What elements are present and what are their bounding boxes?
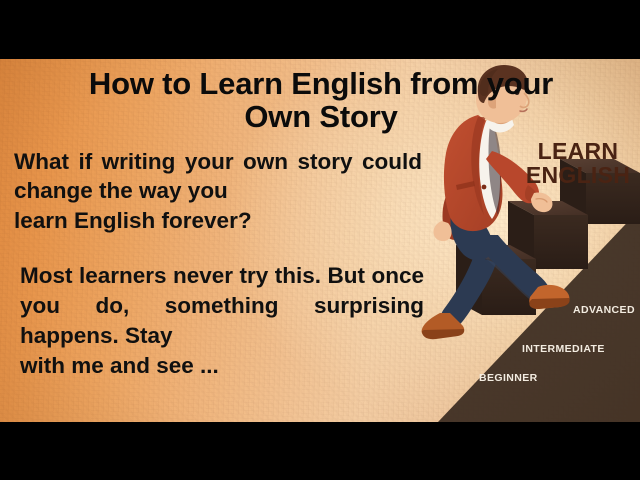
badge-line-learn: LEARN <box>520 139 636 163</box>
title-line-2: Own Story <box>30 100 612 133</box>
badge-line-english: ENGLISH <box>520 163 636 187</box>
letterbox-bottom <box>0 422 640 480</box>
video-content-area: BEGINNER INTERMEDIATE ADVANCED LEARN ENG… <box>0 59 640 422</box>
paragraph-two: Most learners never try this. But once y… <box>20 261 424 381</box>
p2-line-1: Most learners never try this. <box>20 263 321 288</box>
step-label-intermediate: INTERMEDIATE <box>522 343 605 355</box>
title-line-1: How to Learn English from your <box>30 67 612 100</box>
page-title: How to Learn English from your Own Story <box>30 67 612 134</box>
p2-line-4: with me and see ... <box>20 351 424 381</box>
step-label-beginner: BEGINNER <box>479 372 538 384</box>
p1-line-3: learn English forever? <box>14 206 422 235</box>
paragraph-one: What if writing your own story could cha… <box>14 147 422 235</box>
p1-line-1: What if writing your own story <box>14 149 353 174</box>
letterbox-top <box>0 0 640 59</box>
learn-english-badge: LEARN ENGLISH <box>520 139 636 187</box>
step-label-advanced: ADVANCED <box>573 304 635 316</box>
video-frame: BEGINNER INTERMEDIATE ADVANCED LEARN ENG… <box>0 0 640 480</box>
